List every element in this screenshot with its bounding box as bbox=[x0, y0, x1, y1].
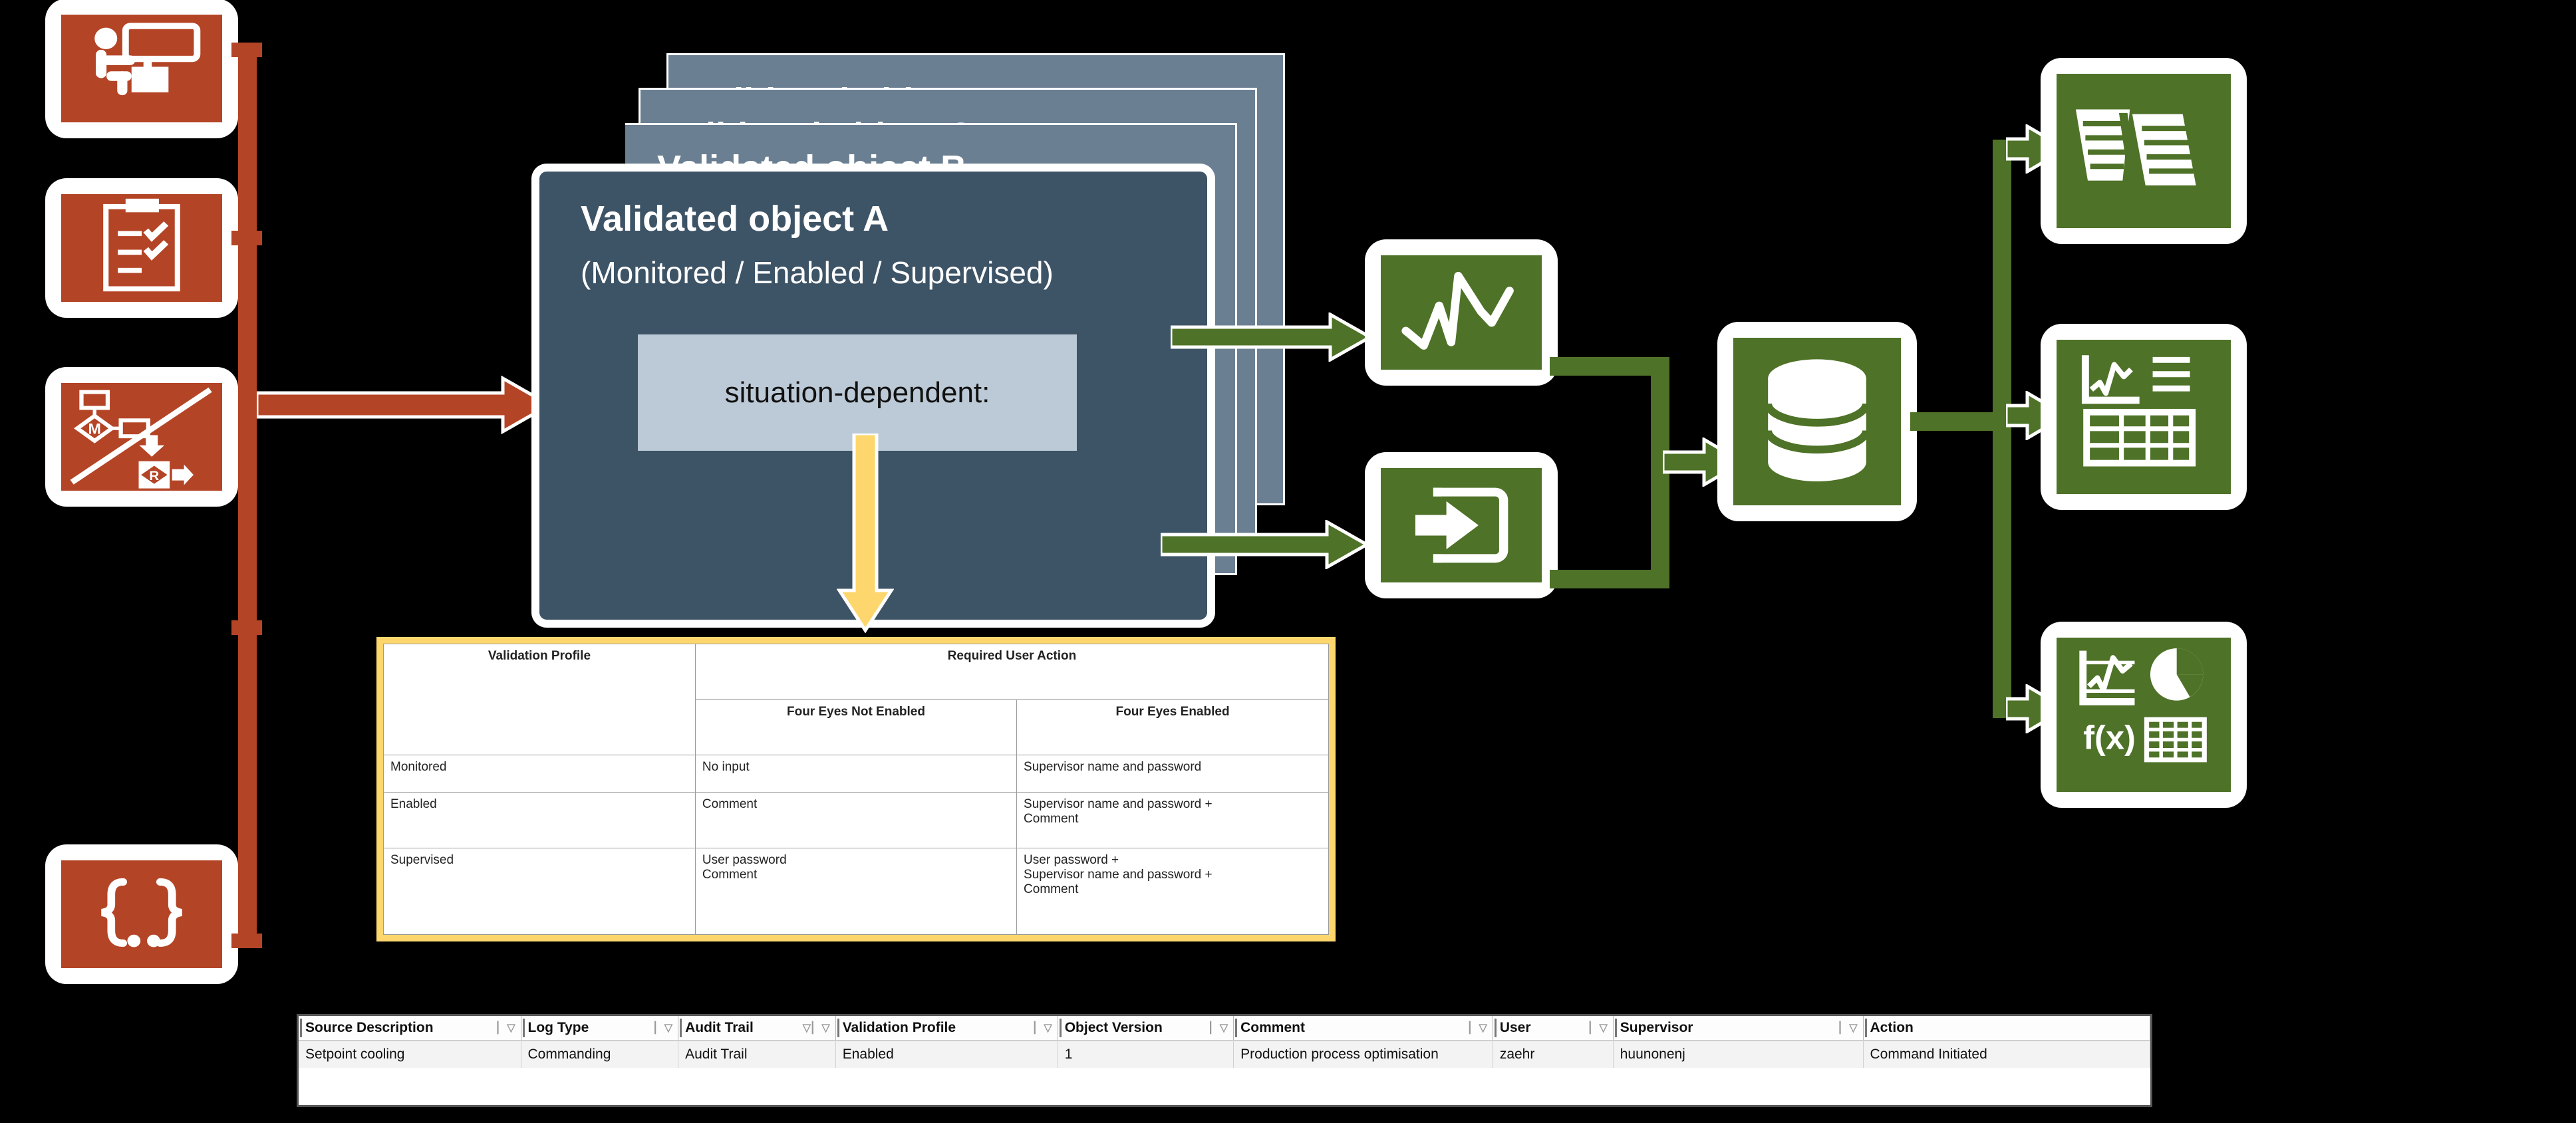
table-row: Setpoint cooling Commanding Audit Trail … bbox=[299, 1041, 2150, 1068]
cell-user: zaehr bbox=[1493, 1041, 1613, 1068]
output-tile-dashboard[interactable] bbox=[2047, 330, 2240, 503]
table-row: Monitored No input Supervisor name and p… bbox=[384, 755, 1329, 793]
audit-trail-table: Source Description ▏▽ Log Type ▏▽ Audit … bbox=[299, 1016, 2150, 1068]
audit-trail-panel[interactable]: Source Description ▏▽ Log Type ▏▽ Audit … bbox=[297, 1014, 2152, 1107]
fx-label: f(x) bbox=[2083, 719, 2136, 757]
table-header-row-1: Validation Profile Required User Action bbox=[384, 644, 1329, 700]
source-tile-engineering[interactable]: M R bbox=[52, 374, 231, 500]
cell-object-version: 1 bbox=[1058, 1041, 1233, 1068]
cell-source-description: Setpoint cooling bbox=[299, 1041, 521, 1068]
orange-stub-engineering bbox=[231, 620, 262, 635]
column-grip[interactable] bbox=[1865, 1019, 1867, 1037]
sort-filter-icon[interactable]: ▏▽ bbox=[1590, 1021, 1609, 1035]
source-tile-operator-workstation[interactable] bbox=[52, 5, 231, 132]
header-required-user-action: Required User Action bbox=[695, 644, 1328, 700]
audit-col-log-type[interactable]: Log Type ▏▽ bbox=[521, 1016, 678, 1041]
audit-col-user[interactable]: User ▏▽ bbox=[1493, 1016, 1613, 1041]
column-grip[interactable] bbox=[523, 1019, 525, 1037]
audit-col-label: Supervisor bbox=[1620, 1020, 1693, 1035]
column-grip[interactable] bbox=[1235, 1019, 1237, 1037]
cell-profile: Enabled bbox=[384, 793, 696, 848]
cell-validation-profile: Enabled bbox=[835, 1041, 1058, 1068]
header-validation-profile: Validation Profile bbox=[384, 644, 696, 755]
column-grip[interactable] bbox=[300, 1019, 302, 1037]
source-tile-json-config[interactable] bbox=[52, 851, 231, 977]
cell-not-enabled: No input bbox=[695, 755, 1016, 793]
cell-profile: Monitored bbox=[384, 755, 696, 793]
green-arrow-to-command-in bbox=[1161, 520, 1367, 569]
cell-not-enabled: Comment bbox=[695, 793, 1016, 848]
arrow-into-box-icon bbox=[1381, 468, 1542, 582]
cell-enabled: User password + Supervisor name and pass… bbox=[1017, 848, 1329, 935]
cell-enabled: Supervisor name and password + Comment bbox=[1017, 793, 1329, 848]
svg-text:R: R bbox=[149, 469, 159, 483]
orange-stub-json bbox=[231, 934, 262, 948]
column-grip[interactable] bbox=[837, 1019, 839, 1037]
chart-and-table-icon bbox=[2057, 340, 2231, 494]
database-cylinder-icon bbox=[1733, 338, 1901, 505]
audit-col-label: Audit Trail bbox=[685, 1020, 754, 1035]
audit-col-label: Log Type bbox=[528, 1020, 589, 1035]
svg-text:M: M bbox=[88, 420, 100, 437]
validated-object-card-a-title: Validated object A bbox=[581, 198, 889, 239]
source-tile-checklist[interactable] bbox=[52, 185, 231, 311]
audit-col-action[interactable]: Action bbox=[1863, 1016, 2150, 1041]
audit-col-label: Action bbox=[1870, 1020, 1914, 1035]
json-braces-icon bbox=[61, 860, 222, 968]
orange-arrow-to-validated-object bbox=[257, 376, 549, 434]
audit-col-label: Comment bbox=[1240, 1020, 1305, 1035]
column-grip[interactable] bbox=[1495, 1019, 1497, 1037]
sort-filter-icon[interactable]: ▏▽ bbox=[498, 1021, 517, 1035]
report-pages-icon bbox=[2057, 74, 2231, 228]
sort-filter-icon[interactable]: ▏▽ bbox=[1034, 1021, 1054, 1035]
validation-profile-table: Validation Profile Required User Action … bbox=[383, 644, 1329, 935]
engineering-model-runtime-icon: M R bbox=[61, 383, 222, 491]
cell-log-type: Commanding bbox=[521, 1041, 678, 1068]
orange-bus-vertical bbox=[238, 43, 257, 948]
audit-col-source-description[interactable]: Source Description ▏▽ bbox=[299, 1016, 521, 1041]
cell-audit-trail: Audit Trail bbox=[678, 1041, 836, 1068]
audit-col-label: Source Description bbox=[305, 1020, 434, 1035]
cell-profile: Supervised bbox=[384, 848, 696, 935]
output-tile-trend[interactable] bbox=[1371, 246, 1551, 379]
output-tile-reports[interactable] bbox=[2047, 64, 2240, 237]
situation-dependent-label: situation-dependent: bbox=[638, 376, 1077, 410]
header-four-eyes-enabled: Four Eyes Enabled bbox=[1017, 699, 1329, 755]
table-row: Supervised User password Comment User pa… bbox=[384, 848, 1329, 935]
header-four-eyes-not-enabled: Four Eyes Not Enabled bbox=[695, 699, 1016, 755]
column-grip[interactable] bbox=[1060, 1019, 1062, 1037]
green-arrow-to-trend bbox=[1171, 312, 1370, 362]
audit-col-object-version[interactable]: Object Version ▏▽ bbox=[1058, 1016, 1233, 1041]
sort-filter-icon[interactable]: ▏▽ bbox=[1211, 1021, 1230, 1035]
column-grip[interactable] bbox=[1615, 1019, 1617, 1037]
audit-col-validation-profile[interactable]: Validation Profile ▏▽ bbox=[835, 1016, 1058, 1041]
output-tile-analytics[interactable]: f(x) bbox=[2047, 628, 2240, 801]
cell-supervisor: huunonenj bbox=[1613, 1041, 1863, 1068]
validation-profile-panel: Validation Profile Required User Action … bbox=[376, 637, 1336, 941]
yellow-arrow-to-validation-table bbox=[837, 434, 894, 633]
chart-pie-fx-table-icon: f(x) bbox=[2057, 638, 2231, 792]
sort-filter-icon[interactable]: ▏▽ bbox=[1840, 1021, 1859, 1035]
cell-action: Command Initiated bbox=[1863, 1041, 2150, 1068]
audit-col-label: Object Version bbox=[1065, 1020, 1163, 1035]
audit-col-audit-trail[interactable]: Audit Trail ▽▏▽ bbox=[678, 1016, 836, 1041]
clipboard-checklist-icon bbox=[61, 194, 222, 302]
cell-enabled: Supervisor name and password bbox=[1017, 755, 1329, 793]
table-row: Enabled Comment Supervisor name and pass… bbox=[384, 793, 1329, 848]
cell-comment: Production process optimisation bbox=[1234, 1041, 1493, 1068]
audit-col-comment[interactable]: Comment ▏▽ bbox=[1234, 1016, 1493, 1041]
audit-col-label: Validation Profile bbox=[843, 1020, 956, 1035]
sort-active-icon[interactable]: ▽▏▽ bbox=[803, 1021, 831, 1035]
orange-stub-checklist bbox=[231, 231, 262, 245]
sort-filter-icon[interactable]: ▏▽ bbox=[655, 1021, 674, 1035]
output-tile-command-in[interactable] bbox=[1371, 459, 1551, 592]
trend-line-icon bbox=[1381, 255, 1542, 370]
audit-col-label: User bbox=[1500, 1020, 1531, 1035]
orange-stub-operator bbox=[231, 43, 262, 57]
cell-not-enabled: User password Comment bbox=[695, 848, 1016, 935]
operator-at-workstation-icon bbox=[61, 15, 222, 122]
audit-col-supervisor[interactable]: Supervisor ▏▽ bbox=[1613, 1016, 1863, 1041]
sort-filter-icon[interactable]: ▏▽ bbox=[1469, 1021, 1489, 1035]
validated-object-card-a-subtitle: (Monitored / Enabled / Supervised) bbox=[581, 255, 1054, 291]
column-grip[interactable] bbox=[680, 1019, 682, 1037]
storage-tile-database[interactable] bbox=[1724, 328, 1910, 515]
diagram-canvas: M R Va bbox=[0, 0, 2576, 1123]
audit-trail-header-row: Source Description ▏▽ Log Type ▏▽ Audit … bbox=[299, 1016, 2150, 1041]
